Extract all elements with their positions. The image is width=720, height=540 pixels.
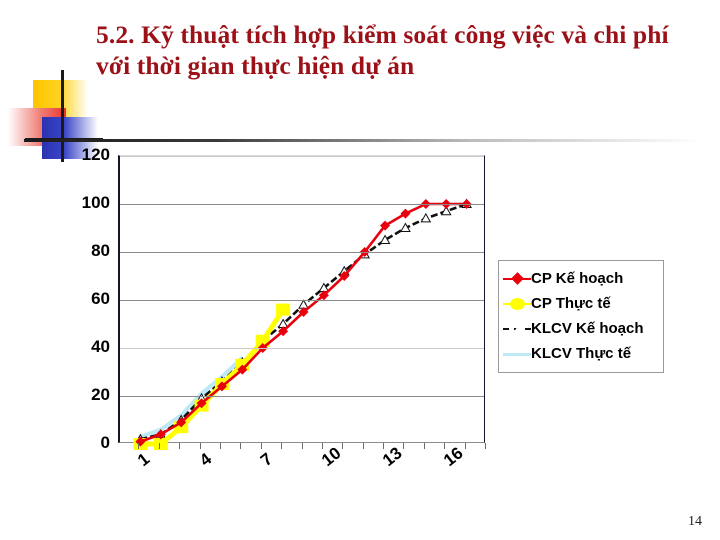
y-axis-tick-label: 20 [52, 385, 110, 405]
gridline [120, 252, 484, 253]
series-marker [276, 304, 290, 316]
gridline [120, 348, 484, 349]
x-axis-tick [200, 443, 201, 449]
gridline [120, 204, 484, 205]
x-axis-tick [179, 443, 180, 449]
y-axis-tick-label: 120 [52, 145, 110, 165]
x-axis-tick [342, 443, 343, 449]
x-axis-tick [424, 443, 425, 449]
legend-label: KLCV Kế hoạch [531, 320, 644, 337]
y-axis-tick-label: 100 [52, 193, 110, 213]
chart-plot-area [118, 155, 485, 443]
legend-label: CP Thực tế [531, 295, 611, 312]
x-axis-tick [261, 443, 262, 449]
title-divider [24, 139, 704, 142]
x-axis-tick-label: 7 [257, 449, 277, 471]
x-axis-tick-label: 4 [196, 449, 216, 471]
series-line [140, 358, 242, 437]
x-axis-tick [485, 443, 486, 449]
x-axis-tick [138, 443, 139, 449]
x-axis-tick-label: 1 [134, 449, 154, 471]
x-axis-tick [465, 443, 466, 449]
x-axis-tick [322, 443, 323, 449]
x-axis-tick [363, 443, 364, 449]
page-number: 14 [688, 514, 702, 530]
gridline [120, 300, 484, 301]
series-marker [421, 214, 430, 222]
x-axis-tick [403, 443, 404, 449]
chart-container: 020406080100120147101316 CP Kế hoạch CP … [52, 148, 672, 478]
x-axis-tick [444, 443, 445, 449]
chart-legend: CP Kế hoạch CP Thực tế KLCV Kế hoạch KLC… [498, 260, 664, 373]
y-axis-tick-label: 40 [52, 337, 110, 357]
x-axis-tick [281, 443, 282, 449]
y-axis-tick-label: 80 [52, 241, 110, 261]
legend-item-klcv-thuc-te: KLCV Thực tế [503, 341, 659, 366]
x-axis-tick [383, 443, 384, 449]
legend-key-cp-thuc-te [503, 297, 531, 311]
x-axis-tick [159, 443, 160, 449]
x-axis-tick [302, 443, 303, 449]
legend-item-cp-thuc-te: CP Thực tế [503, 291, 659, 316]
legend-key-klcv-ke-hoach [503, 322, 531, 336]
legend-key-klcv-thuc-te [503, 347, 531, 361]
gridline [120, 396, 484, 397]
series-line [140, 310, 283, 444]
y-axis-tick-label: 0 [52, 433, 110, 453]
y-axis-tick-label: 60 [52, 289, 110, 309]
x-axis-tick [220, 443, 221, 449]
legend-label: CP Kế hoạch [531, 270, 623, 287]
legend-item-klcv-ke-hoach: KLCV Kế hoạch [503, 316, 659, 341]
legend-key-cp-ke-hoach [503, 272, 531, 286]
page-title: 5.2. Kỹ thuật tích hợp kiểm soát công vi… [96, 19, 696, 81]
x-axis-tick [240, 443, 241, 449]
gridline [120, 156, 484, 157]
legend-item-cp-ke-hoach: CP Kế hoạch [503, 266, 659, 291]
legend-label: KLCV Thực tế [531, 345, 631, 362]
series-marker [154, 438, 168, 450]
